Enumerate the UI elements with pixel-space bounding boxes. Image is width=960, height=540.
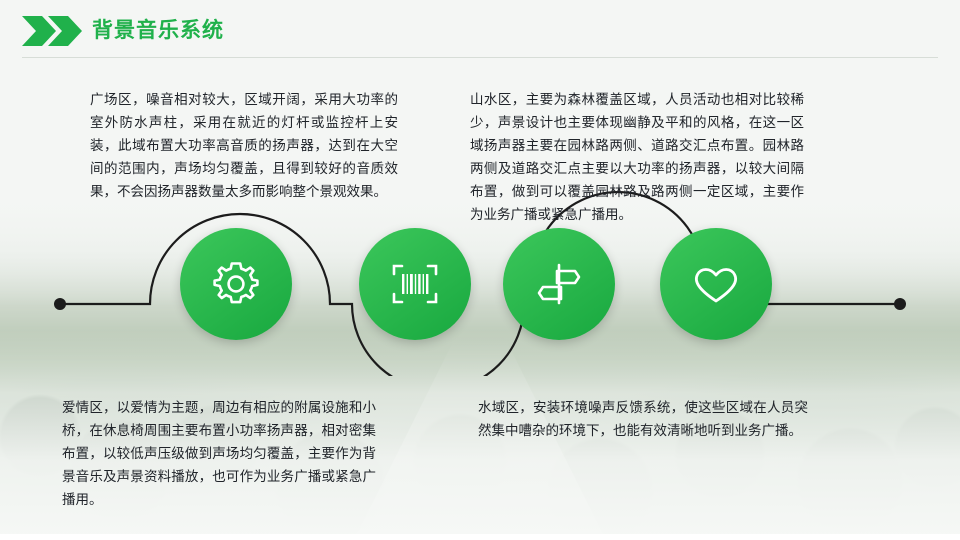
heart-icon [688, 256, 744, 312]
text-block-plaza-area: 广场区，噪音相对较大，区域开阔，采用大功率的室外防水声柱，采用在就近的灯杆或监控… [90, 88, 398, 203]
slide-header: 背景音乐系统 [0, 0, 960, 60]
signpost-icon [531, 256, 587, 312]
text-block-water-area: 水域区，安装环境噪声反馈系统，使这些区域在人员突然集中嘈杂的环境下，也能有效清晰… [478, 396, 808, 442]
node-barcode-scan[interactable] [359, 228, 471, 340]
text-block-landscape-area: 山水区，主要为森林覆盖区域，人员活动也相对比较稀少，声景设计也主要体现幽静及平和… [470, 88, 804, 226]
node-heart[interactable] [660, 228, 772, 340]
footer-bar [0, 534, 960, 540]
gear-icon [208, 256, 264, 312]
page-title: 背景音乐系统 [92, 16, 224, 46]
double-chevron-right-icon [22, 16, 86, 46]
barcode-scan-icon [387, 256, 443, 312]
node-signpost[interactable] [503, 228, 615, 340]
text-block-love-area: 爱情区，以爱情为主题，周边有相应的附属设施和小桥，在休息椅周围主要布置小功率扬声… [62, 396, 376, 511]
slide-root: 背景音乐系统 [0, 0, 960, 540]
header-divider [22, 57, 938, 58]
node-gear[interactable] [180, 228, 292, 340]
